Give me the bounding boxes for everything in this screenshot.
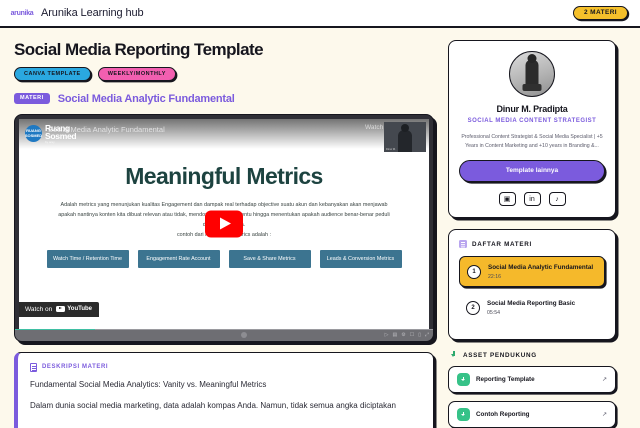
- file-download-icon: [457, 408, 470, 421]
- materi-count-badge: 2 MATERI: [573, 6, 628, 20]
- avatar: [509, 51, 555, 97]
- youtube-badge: YouTube: [56, 306, 92, 313]
- channel-subtext: by arsy: [45, 140, 76, 144]
- autoplay-icon[interactable]: ▷: [385, 332, 389, 338]
- asset-name: Contoh Reporting: [476, 411, 530, 418]
- description-card: DESKRIPSI MATERI Fundamental Social Medi…: [14, 352, 434, 428]
- instagram-icon[interactable]: ▣: [499, 192, 516, 206]
- description-label: DESKRIPSI MATERI: [42, 364, 108, 370]
- metric-box: Watch Time / Retention Time: [47, 250, 129, 268]
- document-icon: [30, 363, 37, 372]
- channel-avatar-icon: RUANG SOSMED: [25, 125, 42, 142]
- main-column: Social Media Reporting Template CANVA TE…: [14, 40, 434, 428]
- play-button[interactable]: [205, 210, 243, 237]
- subtitles-icon[interactable]: ▤: [393, 332, 398, 338]
- lesson-subtitle-row: MATERI Social Media Analytic Fundamental: [14, 93, 434, 105]
- video-control-bar[interactable]: ▷ ▤ ⚙ ☐ ▯ ⤢: [15, 329, 433, 341]
- description-header: DESKRIPSI MATERI: [30, 363, 421, 372]
- video-frame: Meaningful Metrics Adalah metrics yang m…: [19, 119, 429, 329]
- file-download-icon: [457, 373, 470, 386]
- arunika-logo-icon: arunika: [12, 6, 32, 20]
- control-icons[interactable]: ▷ ▤ ⚙ ☐ ▯ ⤢: [385, 332, 429, 338]
- daftar-materi-card: DAFTAR MATERI 1 Social Media Analytic Fu…: [448, 229, 616, 340]
- materi-list-item-2[interactable]: 2 Social Media Reporting Basic 05:54: [459, 293, 605, 322]
- metric-box-row: Watch Time / Retention Time Engagement R…: [19, 250, 429, 268]
- progress-fill: [15, 329, 95, 331]
- materi-item-duration: 05:54: [487, 310, 575, 316]
- materi-number-badge: 2: [466, 301, 480, 315]
- asset-pendukung-heading: ASSET PENDUKUNG: [463, 352, 537, 359]
- materi-item-title: Social Media Reporting Basic: [487, 299, 575, 308]
- materi-item-text: Social Media Analytic Fundamental 22:16: [488, 263, 593, 280]
- settings-gear-icon[interactable]: ⚙: [401, 332, 405, 338]
- tag-canva-template[interactable]: CANVA TEMPLATE: [14, 67, 91, 81]
- instructor-role: SOCIAL MEDIA CONTENT STRATEGIST: [459, 117, 605, 126]
- social-links-row: ▣ in ♪: [459, 192, 605, 206]
- brand-name: Arunika Learning hub: [41, 7, 144, 19]
- materi-item-title: Social Media Analytic Fundamental: [488, 263, 593, 272]
- tag-weekly-monthly[interactable]: WEEKLY/MONTHLY: [98, 67, 176, 81]
- presenter-pip: Dinur M.: [384, 122, 426, 152]
- top-navigation-bar: arunika Arunika Learning hub 2 MATERI: [0, 0, 640, 28]
- presenter-figure-icon: [398, 130, 412, 152]
- channel-logo[interactable]: RUANG SOSMED Ruang Sosmed by arsy: [25, 124, 76, 144]
- materi-chip: MATERI: [14, 93, 50, 105]
- presenter-name-label: Dinur M.: [386, 148, 396, 151]
- asset-name: Reporting Template: [476, 376, 535, 383]
- daftar-materi-heading: DAFTAR MATERI: [472, 241, 532, 248]
- youtube-wordmark: YouTube: [67, 306, 92, 312]
- slide-heading: Meaningful Metrics: [19, 163, 429, 190]
- metric-box: Leads & Conversion Metrics: [320, 250, 402, 268]
- watch-on-youtube-button[interactable]: Watch on YouTube: [19, 302, 99, 317]
- page-title: Social Media Reporting Template: [14, 40, 434, 60]
- fullscreen-icon[interactable]: ⤢: [425, 332, 429, 338]
- materi-item-text: Social Media Reporting Basic 05:54: [487, 299, 575, 316]
- description-body: Dalam dunia social media marketing, data…: [30, 400, 421, 412]
- materi-number-badge: 1: [467, 265, 481, 279]
- materi-list-item-1[interactable]: 1 Social Media Analytic Fundamental 22:1…: [459, 256, 605, 287]
- download-icon: [450, 351, 458, 359]
- instructor-name: Dinur M. Pradipta: [459, 104, 605, 114]
- template-lainnya-button[interactable]: Template lainnya: [459, 160, 605, 182]
- theater-icon[interactable]: ▯: [418, 332, 421, 338]
- daftar-materi-header: DAFTAR MATERI: [459, 240, 605, 248]
- page-body: Social Media Reporting Template CANVA TE…: [0, 28, 640, 428]
- avatar-wrap: [459, 51, 605, 97]
- external-link-icon[interactable]: ↗: [602, 411, 607, 418]
- metric-box: Save & Share Metrics: [229, 250, 311, 268]
- instructor-profile-card: Dinur M. Pradipta SOCIAL MEDIA CONTENT S…: [448, 40, 616, 218]
- external-link-icon[interactable]: ↗: [602, 376, 607, 383]
- brand[interactable]: arunika Arunika Learning hub: [12, 6, 144, 20]
- metric-box: Engagement Rate Account: [138, 250, 220, 268]
- asset-item-reporting-template[interactable]: Reporting Template ↗: [448, 366, 616, 393]
- youtube-play-icon: [56, 306, 65, 313]
- instructor-bio: Professional Content Strategist & Social…: [459, 133, 605, 151]
- asset-pendukung-header: ASSET PENDUKUNG: [450, 351, 616, 359]
- channel-name-block: Ruang Sosmed by arsy: [45, 124, 76, 144]
- tiktok-icon[interactable]: ♪: [549, 192, 566, 206]
- lesson-title: Social Media Analytic Fundamental: [58, 93, 235, 105]
- channel-name-line2: Sosmed: [45, 132, 76, 140]
- avatar-figure-icon: [526, 60, 539, 90]
- linkedin-icon[interactable]: in: [524, 192, 541, 206]
- materi-item-duration: 22:16: [488, 274, 593, 280]
- tag-row: CANVA TEMPLATE WEEKLY/MONTHLY: [14, 67, 434, 81]
- miniplayer-icon[interactable]: ☐: [410, 332, 414, 338]
- list-icon: [459, 240, 467, 248]
- scrubber-handle[interactable]: [241, 332, 247, 338]
- description-title: Fundamental Social Media Analytics: Vani…: [30, 380, 421, 389]
- sidebar: Dinur M. Pradipta SOCIAL MEDIA CONTENT S…: [448, 40, 616, 428]
- video-player[interactable]: Meaningful Metrics Adalah metrics yang m…: [14, 114, 434, 342]
- asset-item-contoh-reporting[interactable]: Contoh Reporting ↗: [448, 401, 616, 428]
- watch-on-label: Watch on: [25, 306, 52, 313]
